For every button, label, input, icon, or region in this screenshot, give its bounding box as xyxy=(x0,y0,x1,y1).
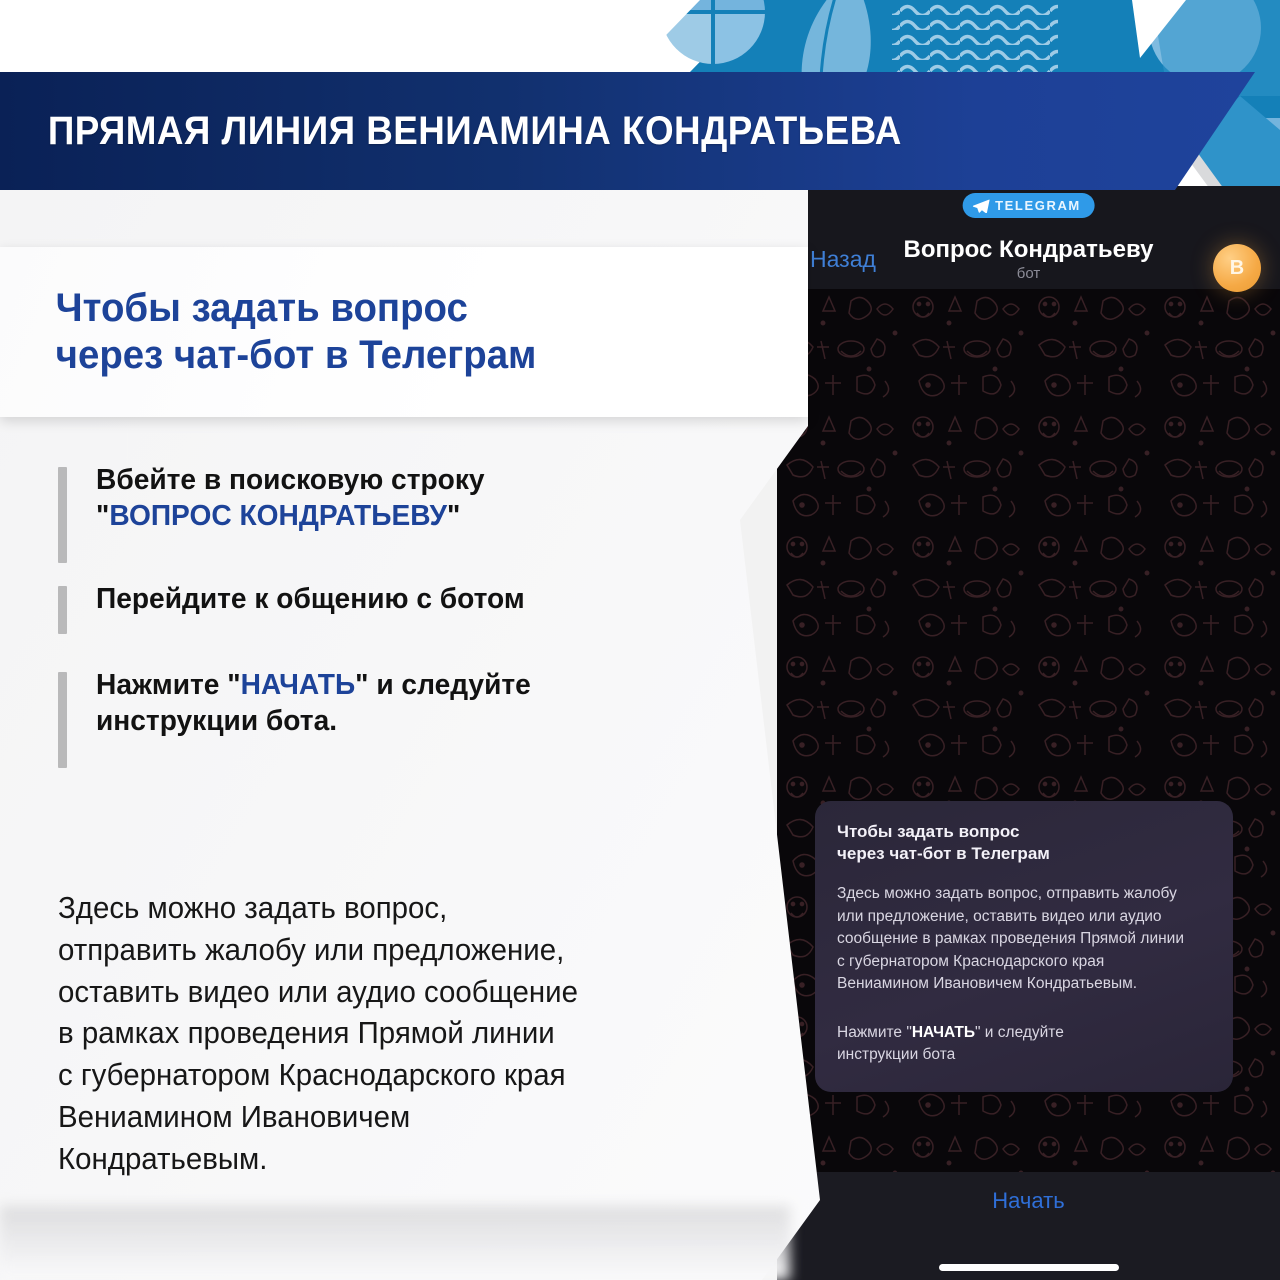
step-text: Перейдите к общению с ботом xyxy=(96,581,738,617)
telegram-plane-icon xyxy=(972,199,989,213)
step-suffix: " xyxy=(447,500,460,532)
nav-title-group[interactable]: Вопрос Кондратьеву бот xyxy=(777,236,1280,282)
steps-list: Вбейте в поисковую строку "ВОПРОС КОНДРА… xyxy=(58,462,758,785)
step-highlight: НАЧАТЬ xyxy=(241,669,356,701)
start-button[interactable]: Начать xyxy=(777,1188,1280,1214)
step-text: Нажмите "НАЧАТЬ" и следуйте инструкции б… xyxy=(96,667,738,740)
chat-background: Чтобы задать вопрос через чат-бот в Теле… xyxy=(777,289,1280,1172)
title-banner: ПРЯМАЯ ЛИНИЯ ВЕНИАМИНА КОНДРАТЬЕВА xyxy=(0,72,1255,190)
bottom-shadow-band xyxy=(0,1206,790,1280)
step-prefix: Нажмите " xyxy=(96,669,241,701)
phone-screenshot: Чтобы задать вопрос через чат-бот в Теле… xyxy=(777,186,1280,1280)
home-indicator xyxy=(939,1264,1119,1271)
bubble-body: Здесь можно задать вопрос, отправить жал… xyxy=(837,883,1211,995)
phone-bottom-bar: Начать xyxy=(777,1172,1280,1280)
list-item: Вбейте в поисковую строку "ВОПРОС КОНДРА… xyxy=(58,462,758,535)
page-title: ПРЯМАЯ ЛИНИЯ ВЕНИАМИНА КОНДРАТЬЕВА xyxy=(0,109,902,154)
bubble-footer: Нажмите "НАЧАТЬ" и следуйте инструкции б… xyxy=(837,1022,1211,1067)
bubble-title: Чтобы задать вопрос через чат-бот в Теле… xyxy=(837,821,1211,865)
bullet-bar xyxy=(58,467,67,563)
list-item: Перейдите к общению с ботом xyxy=(58,581,758,617)
telegram-badge: TELEGRAM xyxy=(962,193,1095,218)
step-text: Вбейте в поисковую строку "ВОПРОС КОНДРА… xyxy=(96,462,738,535)
description-paragraph: Здесь можно задать вопрос, отправить жал… xyxy=(58,888,774,1180)
bubble-footer-bold: НАЧАТЬ xyxy=(912,1024,975,1041)
phone-nav-bar: TELEGRAM Назад Вопрос Кондратьеву бот В xyxy=(777,186,1280,289)
heading-card: Чтобы задать вопрос через чат-бот в Теле… xyxy=(0,247,808,417)
list-item: Нажмите "НАЧАТЬ" и следуйте инструкции б… xyxy=(58,667,758,740)
step-prefix: Перейдите к общению с ботом xyxy=(96,583,525,615)
bubble-footer-prefix: Нажмите " xyxy=(837,1024,912,1041)
chat-subtitle: бот xyxy=(777,265,1280,282)
avatar[interactable]: В xyxy=(1213,244,1261,292)
bullet-bar xyxy=(58,672,67,768)
bullet-bar xyxy=(58,586,67,634)
telegram-badge-label: TELEGRAM xyxy=(995,198,1081,213)
step-highlight: ВОПРОС КОНДРАТЬЕВУ xyxy=(109,500,447,532)
avatar-letter: В xyxy=(1230,257,1244,280)
chat-title: Вопрос Кондратьеву xyxy=(777,236,1280,264)
bot-message-bubble: Чтобы задать вопрос через чат-бот в Теле… xyxy=(815,801,1233,1092)
card-heading: Чтобы задать вопрос через чат-бот в Теле… xyxy=(0,285,536,379)
poster-canvas: ПРЯМАЯ ЛИНИЯ ВЕНИАМИНА КОНДРАТЬЕВА xyxy=(0,0,1280,1280)
